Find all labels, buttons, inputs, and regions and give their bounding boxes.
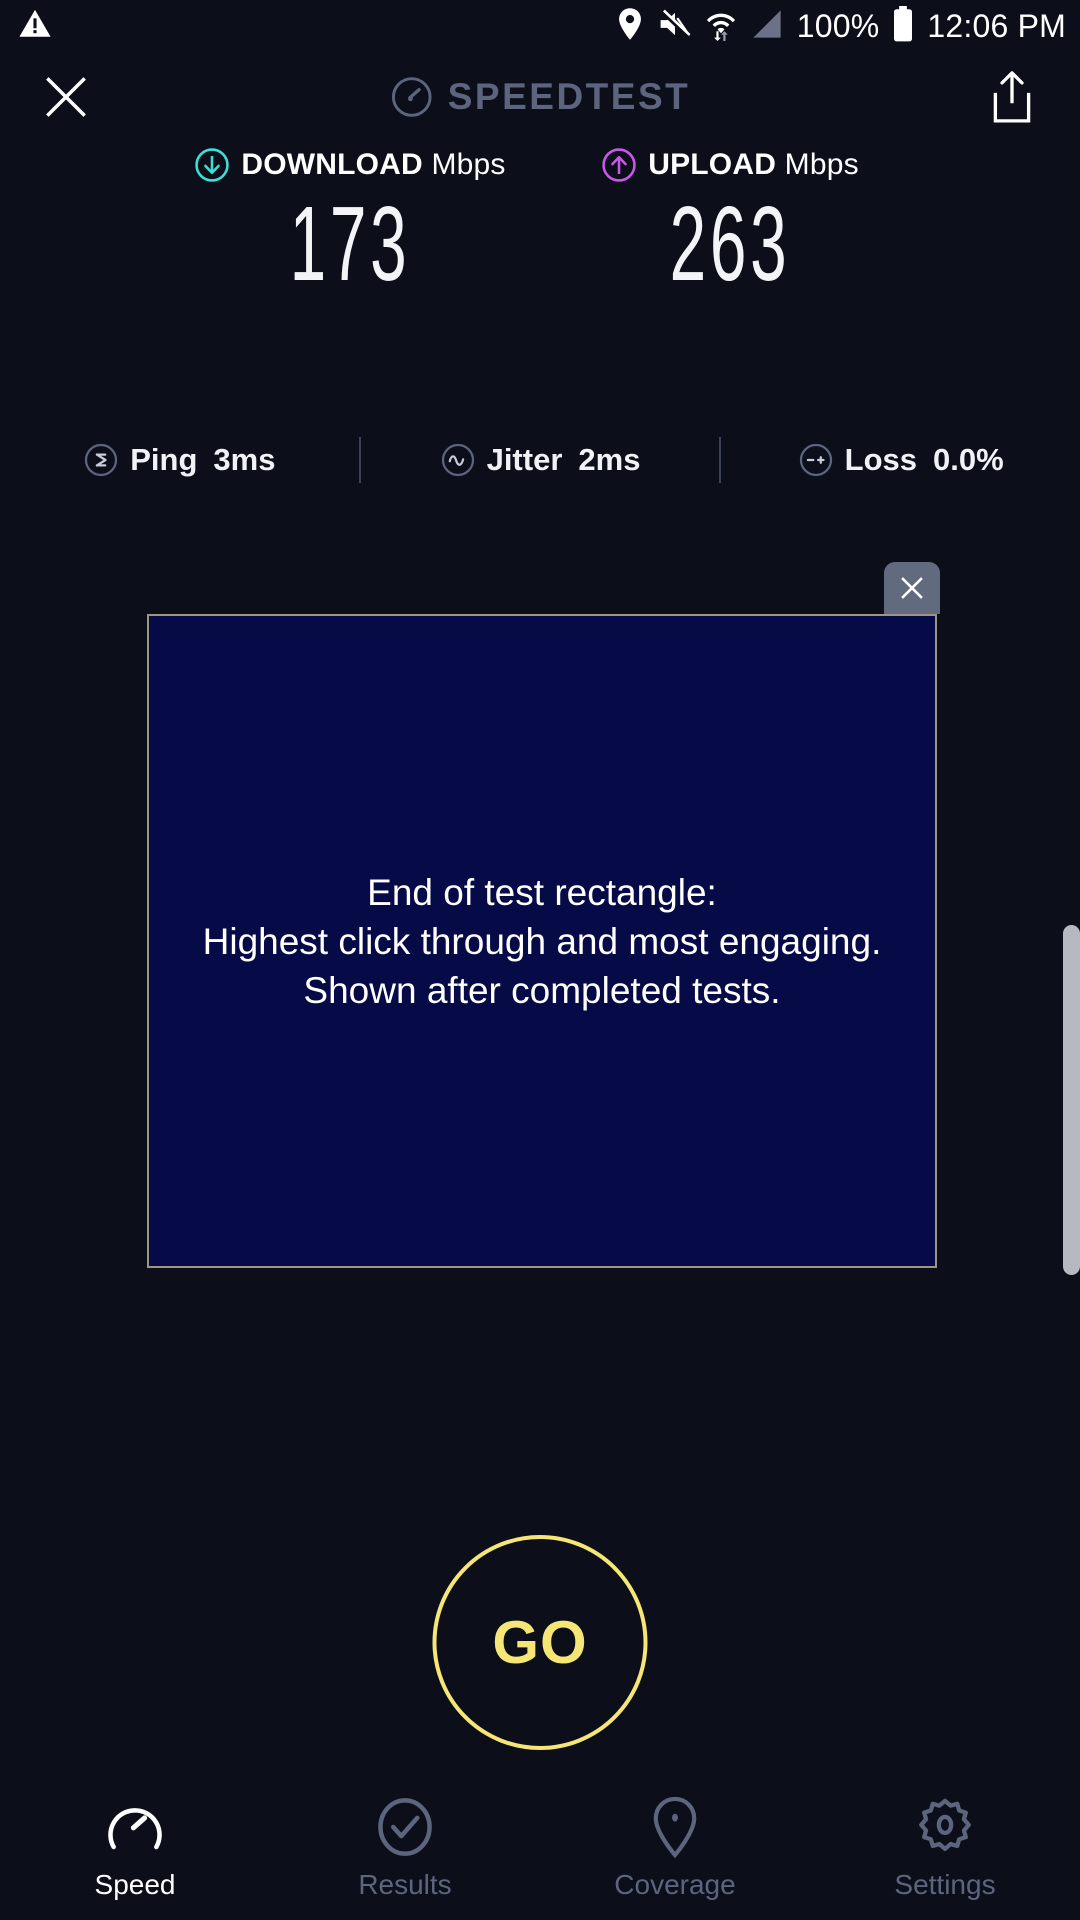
nav-item-settings[interactable]: Settings: [810, 1785, 1080, 1920]
check-circle-icon: [373, 1795, 437, 1859]
close-app-button[interactable]: [35, 66, 97, 128]
nav-label-settings: Settings: [894, 1869, 995, 1901]
go-button-label: GO: [492, 1608, 587, 1677]
nav-item-speed[interactable]: Speed: [0, 1785, 270, 1920]
status-bar-left: [18, 7, 52, 46]
close-x-icon: [895, 571, 929, 605]
speedometer-icon: [390, 75, 434, 119]
upload-value: 263: [612, 192, 848, 296]
arrow-down-circle-icon: [194, 147, 230, 183]
brand-title: SPEEDTEST: [448, 76, 691, 118]
download-label: DOWNLOAD Mbps: [241, 148, 505, 182]
go-button[interactable]: GO: [433, 1535, 648, 1750]
close-x-icon: [38, 69, 94, 125]
download-header: DOWNLOAD Mbps: [160, 142, 540, 188]
stat-ping-label: Ping: [130, 442, 197, 478]
stat-jitter-value: 2ms: [578, 442, 640, 478]
speed-row: DOWNLOAD Mbps 173 UPLOAD Mbps 263: [0, 142, 1080, 296]
stat-jitter-label: Jitter: [487, 442, 563, 478]
upload-kind: UPLOAD: [648, 148, 776, 181]
nav-label-speed: Speed: [95, 1869, 176, 1901]
stat-ping: Ping 3ms: [0, 442, 359, 478]
test-results: DOWNLOAD Mbps 173 UPLOAD Mbps 263: [0, 142, 1080, 296]
status-bar-right: 100% 12:06 PM: [615, 6, 1066, 47]
battery-full-icon: [892, 6, 914, 47]
arrow-up-circle-icon: [601, 147, 637, 183]
upload-result: UPLOAD Mbps 263: [540, 142, 920, 296]
upload-header: UPLOAD Mbps: [540, 142, 920, 188]
stat-loss-value: 0.0%: [933, 442, 1004, 478]
battery-percent-label: 100%: [797, 8, 880, 45]
stat-ping-value: 3ms: [213, 442, 275, 478]
speedometer-icon: [103, 1795, 167, 1859]
cellular-signal-icon: [750, 9, 784, 44]
app-header: SPEEDTEST: [0, 52, 1080, 142]
upload-label: UPLOAD Mbps: [648, 148, 859, 182]
stat-loss: Loss 0.0%: [721, 442, 1080, 478]
network-stats-row: Ping 3ms Jitter 2ms Loss: [0, 430, 1080, 490]
upload-unit: Mbps: [785, 148, 859, 181]
share-upload-icon: [988, 70, 1036, 124]
jitter-icon: [440, 442, 476, 478]
speedtest-app-screen: 100% 12:06 PM SPEEDTEST: [0, 0, 1080, 1920]
nav-item-results[interactable]: Results: [270, 1785, 540, 1920]
wifi-transfer-icon: [705, 7, 737, 46]
warning-triangle-icon: [18, 7, 52, 46]
download-value: 173: [232, 192, 468, 296]
download-kind: DOWNLOAD: [241, 148, 423, 181]
volume-mute-icon: [658, 8, 692, 45]
stat-loss-label: Loss: [845, 442, 917, 478]
download-unit: Mbps: [431, 148, 505, 181]
bottom-navigation-bar: Speed Results Coverage Settings: [0, 1785, 1080, 1920]
location-pin-icon: [615, 7, 645, 46]
ad-close-button[interactable]: [884, 562, 940, 614]
brand-logo: SPEEDTEST: [390, 75, 691, 119]
nav-item-coverage[interactable]: Coverage: [540, 1785, 810, 1920]
location-pin-icon: [643, 1795, 707, 1859]
ping-icon: [83, 442, 119, 478]
advertisement-banner[interactable]: End of test rectangle: Highest click thr…: [147, 614, 937, 1268]
ad-text: End of test rectangle: Highest click thr…: [189, 868, 896, 1015]
nav-label-coverage: Coverage: [614, 1869, 735, 1901]
stat-jitter: Jitter 2ms: [361, 442, 720, 478]
status-bar-clock: 12:06 PM: [927, 8, 1066, 45]
system-status-bar: 100% 12:06 PM: [0, 0, 1080, 52]
loss-icon: [798, 442, 834, 478]
share-button[interactable]: [984, 67, 1040, 127]
page-scrollbar-thumb[interactable]: [1063, 925, 1080, 1275]
download-result: DOWNLOAD Mbps 173: [160, 142, 540, 296]
gear-icon: [913, 1795, 977, 1859]
nav-label-results: Results: [358, 1869, 451, 1901]
